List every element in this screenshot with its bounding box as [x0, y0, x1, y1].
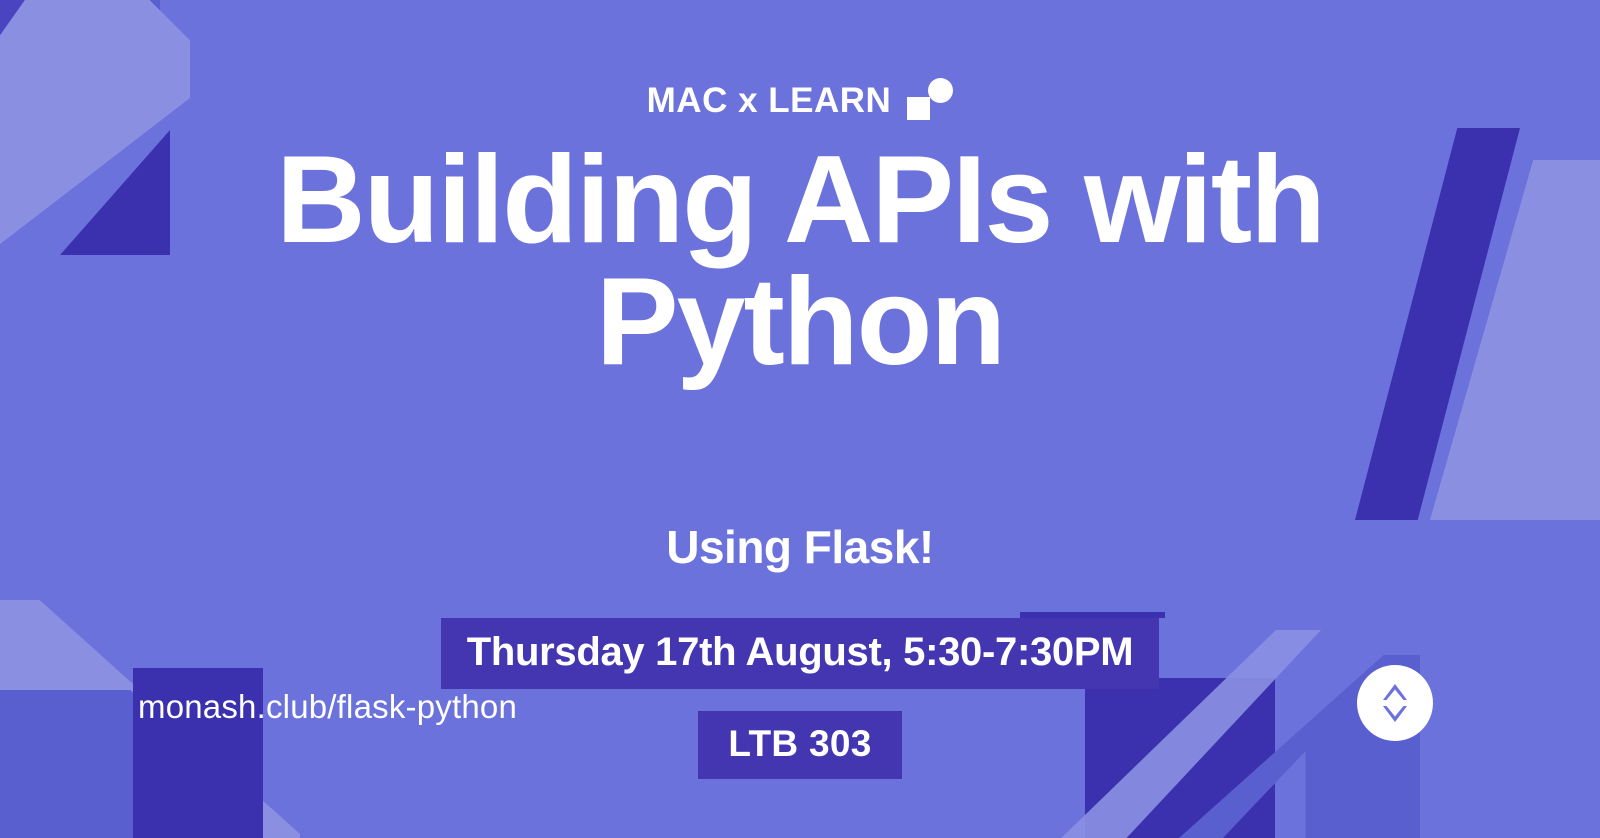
- mac-chevron-logo-icon: [1378, 682, 1412, 724]
- event-venue-badge: LTB 303: [698, 711, 901, 779]
- circle-glyph-icon: [928, 78, 953, 103]
- brand-eyebrow-label: MAC x LEARN: [647, 83, 892, 118]
- brand-logo-mark: [907, 78, 953, 122]
- page-subtitle: Using Flask!: [666, 520, 934, 574]
- event-poster: MAC x LEARN Building APIs with Python Us…: [0, 0, 1600, 838]
- site-url-label: monash.club/flask-python: [138, 688, 517, 726]
- page-title: Building APIs with Python: [200, 140, 1400, 383]
- square-glyph-icon: [907, 97, 930, 120]
- event-date-banner: Thursday 17th August, 5:30-7:30PM: [441, 618, 1160, 689]
- brand-eyebrow: MAC x LEARN: [647, 78, 954, 122]
- club-logo-badge: [1357, 665, 1433, 741]
